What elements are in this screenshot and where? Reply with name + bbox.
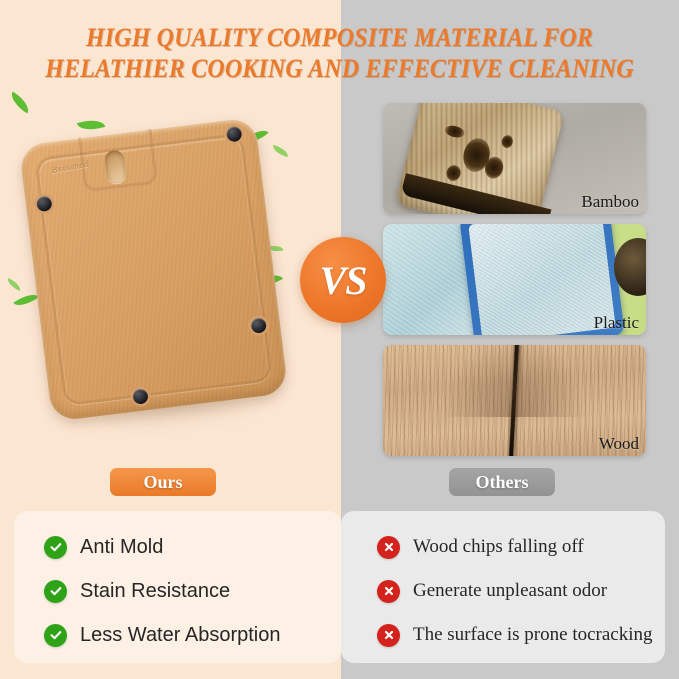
feature-row: The surface is prone tocracking [341, 613, 665, 657]
mold-spot [444, 124, 466, 140]
feature-text: Stain Resistance [80, 580, 230, 603]
others-pill-label: Others [476, 472, 529, 493]
headline-line-1: HIGH QUALITY COMPOSITE MATERIAL FOR [27, 22, 652, 53]
cross-circle-icon [377, 536, 400, 559]
photo-label-bamboo: Bamboo [581, 192, 639, 212]
vs-label: VS [320, 257, 367, 304]
feature-text: Anti Mold [80, 536, 163, 559]
leaf-icon [13, 289, 38, 311]
photo-bamboo-mold: Bamboo [383, 103, 646, 214]
feature-text: The surface is prone tocracking [413, 624, 653, 646]
feature-text: Wood chips falling off [413, 536, 584, 558]
feature-text: Less Water Absorption [80, 624, 280, 647]
feature-row: Anti Mold [14, 525, 341, 569]
infographic-root: HIGH QUALITY COMPOSITE MATERIAL FOR HELA… [0, 0, 679, 679]
mold-spot [445, 164, 462, 183]
photo-label-wood: Wood [599, 434, 639, 454]
feature-text: Generate unpleasant odor [413, 580, 607, 602]
mold-spot [500, 134, 514, 149]
leaf-icon [271, 145, 289, 157]
cross-circle-icon [377, 624, 400, 647]
check-circle-icon [44, 624, 67, 647]
ours-pill-label: Ours [143, 472, 182, 493]
competitor-photo-list: Bamboo Plastic Wood [383, 103, 646, 466]
leaf-icon [77, 115, 105, 134]
photo-wood-cracked: Wood [383, 345, 646, 456]
photo-label-plastic: Plastic [594, 313, 639, 333]
board-surface: Bvoomed [19, 117, 289, 422]
photo-plastic-scratched: Plastic [383, 224, 646, 335]
feature-row: Less Water Absorption [14, 613, 341, 657]
headline-line-2: HELATHIER COOKING AND EFFECTIVE CLEANING [27, 53, 652, 84]
ours-feature-card: Anti Mold Stain Resistance Less Water Ab… [14, 511, 341, 663]
product-cutting-board: Bvoomed [19, 116, 297, 429]
cross-circle-icon [377, 580, 400, 603]
vs-badge: VS [300, 237, 386, 323]
headline: HIGH QUALITY COMPOSITE MATERIAL FOR HELA… [0, 22, 679, 84]
check-circle-icon [44, 580, 67, 603]
feature-row: Generate unpleasant odor [341, 569, 665, 613]
product-stage: Bvoomed [0, 95, 341, 455]
check-circle-icon [44, 536, 67, 559]
feature-row: Stain Resistance [14, 569, 341, 613]
feature-row: Wood chips falling off [341, 525, 665, 569]
ours-pill: Ours [110, 468, 216, 496]
leaf-icon [5, 278, 22, 291]
leaf-icon [7, 91, 33, 113]
others-pill: Others [449, 468, 555, 496]
others-feature-card: Wood chips falling off Generate unpleasa… [341, 511, 665, 663]
